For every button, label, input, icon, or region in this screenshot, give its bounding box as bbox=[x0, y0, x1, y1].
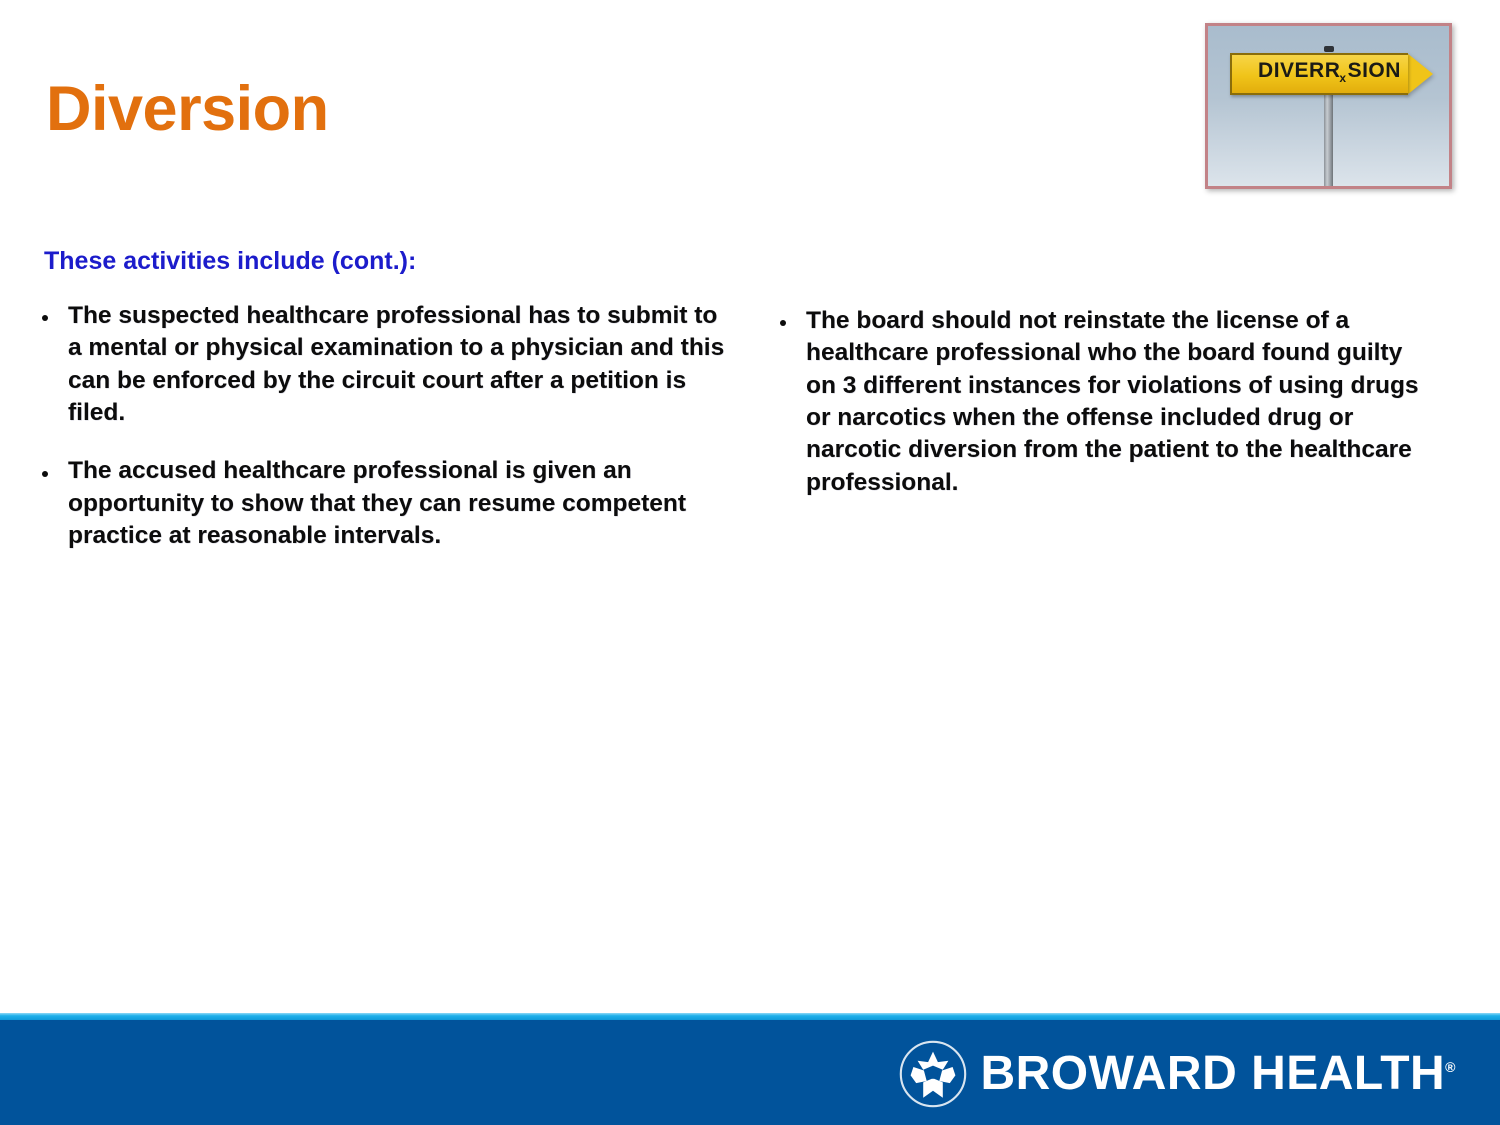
left-column: The suspected healthcare professional ha… bbox=[36, 300, 726, 552]
bullet-dot-icon bbox=[780, 320, 786, 326]
sign-bolt-icon bbox=[1324, 46, 1334, 52]
list-item-text: The suspected healthcare professional ha… bbox=[68, 302, 724, 426]
sign-label-part-2: SION bbox=[1348, 59, 1401, 82]
list-item: The suspected healthcare professional ha… bbox=[36, 300, 726, 429]
broward-health-starburst-icon bbox=[898, 1039, 968, 1109]
slide: Diversion DIVERRxSION These activities i… bbox=[0, 0, 1500, 1125]
sign-label-rx-subscript: x bbox=[1339, 71, 1346, 85]
list-item: The accused healthcare professional is g… bbox=[36, 455, 726, 552]
footer: BROWARD HEALTH® bbox=[0, 1013, 1500, 1125]
bullet-dot-icon bbox=[42, 471, 48, 477]
list-item: The board should not reinstate the licen… bbox=[774, 305, 1434, 499]
right-column: The board should not reinstate the licen… bbox=[774, 305, 1434, 499]
sign-label-part-1: DIVER bbox=[1258, 59, 1325, 82]
bullet-dot-icon bbox=[42, 315, 48, 321]
diversion-road-sign-image: DIVERRxSION bbox=[1205, 23, 1452, 189]
footer-accent-stripe bbox=[0, 1013, 1500, 1020]
page-title: Diversion bbox=[46, 78, 329, 141]
section-subheading: These activities include (cont.): bbox=[44, 246, 416, 276]
brand-logo: BROWARD HEALTH® bbox=[898, 1039, 1456, 1109]
brand-name-text: BROWARD HEALTH bbox=[980, 1047, 1445, 1100]
list-item-text: The board should not reinstate the licen… bbox=[806, 307, 1419, 496]
list-item-text: The accused healthcare professional is g… bbox=[68, 457, 686, 549]
registered-trademark-mark: ® bbox=[1445, 1059, 1456, 1075]
sign-label: DIVERRxSION bbox=[1242, 60, 1417, 81]
brand-wordmark: BROWARD HEALTH® bbox=[980, 1050, 1456, 1098]
